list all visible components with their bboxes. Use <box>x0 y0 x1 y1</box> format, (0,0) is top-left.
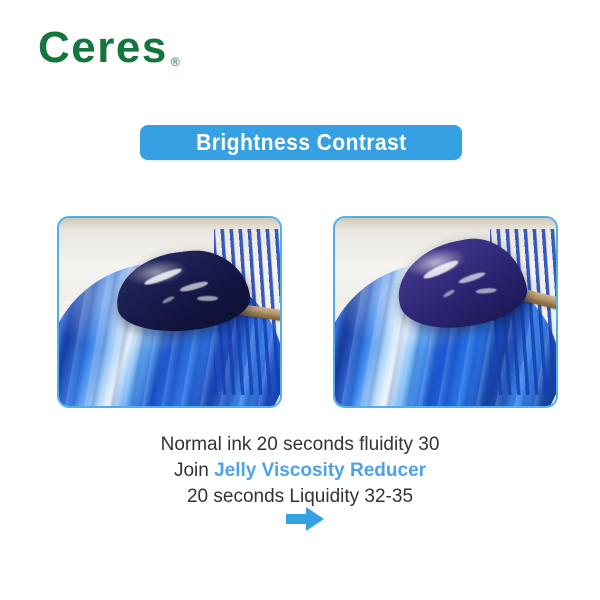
brand-logo: Ceres ® <box>38 26 180 70</box>
gloss-highlight <box>475 287 496 294</box>
brand-name: Ceres <box>38 26 168 70</box>
banner-title: Brightness Contrast <box>196 129 406 156</box>
gloss-highlight <box>144 266 184 287</box>
gloss-highlight <box>162 295 176 305</box>
caption-line-1: Normal ink 20 seconds fluidity 30 <box>0 432 600 458</box>
comparison-row <box>0 216 600 408</box>
gloss-highlight <box>197 296 218 301</box>
gloss-highlight <box>442 289 455 299</box>
gloss-highlight <box>422 257 460 280</box>
photo-after <box>333 216 558 408</box>
caption-block: Normal ink 20 seconds fluidity 30 Join J… <box>0 432 600 510</box>
gloss-highlight <box>457 270 486 285</box>
title-banner: Brightness Contrast <box>140 125 462 160</box>
caption-line-3: 20 seconds Liquidity 32-35 <box>0 484 600 510</box>
registered-trademark-icon: ® <box>171 56 180 68</box>
photo-before-content <box>59 218 280 406</box>
photo-before <box>57 216 282 408</box>
product-name-highlight: Jelly Viscosity Reducer <box>214 460 426 481</box>
caption-line-2-prefix: Join <box>174 460 214 481</box>
photo-after-content <box>335 218 556 406</box>
caption-line-2: Join Jelly Viscosity Reducer <box>0 458 600 484</box>
gloss-highlight <box>179 280 209 293</box>
